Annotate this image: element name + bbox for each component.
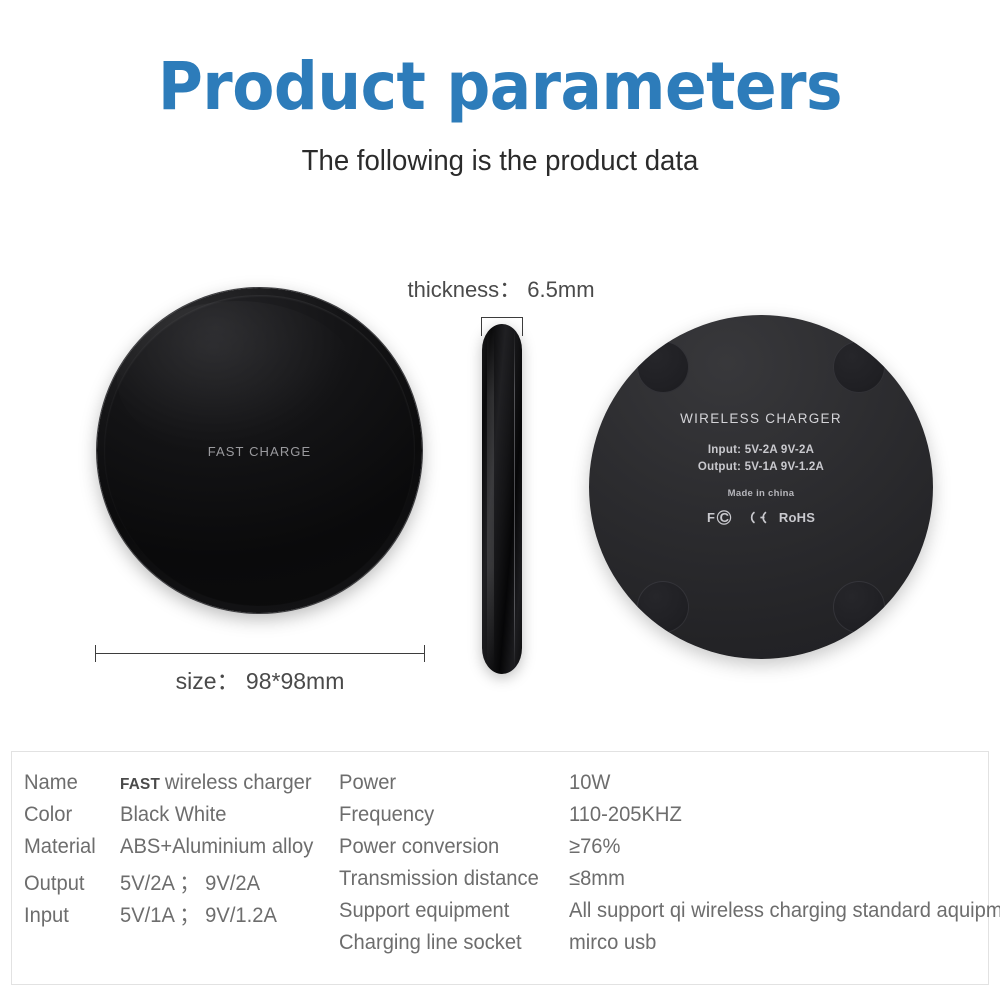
rubber-foot-pad bbox=[833, 341, 885, 393]
charger-front-disc: FAST CHARGE bbox=[97, 288, 422, 613]
spec-row: Power conversion≥76% bbox=[339, 835, 1000, 867]
spec-value: 110-205KHZ bbox=[569, 803, 1000, 827]
spec-value: 10W bbox=[569, 771, 1000, 795]
dimension-line bbox=[481, 317, 523, 318]
rohs-label: RoHS bbox=[779, 510, 815, 525]
spec-row: Input5V/1A ； 9V/1.2A bbox=[24, 899, 330, 931]
back-output-spec: Output: 5V-1A 9V-1.2A bbox=[589, 461, 933, 473]
spec-label: Support equipment bbox=[339, 899, 560, 923]
spec-value: mirco usb bbox=[569, 931, 1000, 955]
spec-row: Frequency110-205KHZ bbox=[339, 803, 1000, 835]
fast-charge-label: FAST CHARGE bbox=[97, 444, 422, 459]
spec-value: All support qi wireless charging standar… bbox=[569, 899, 1000, 923]
spec-label: Charging line socket bbox=[339, 931, 560, 955]
ce-icon bbox=[744, 510, 768, 525]
side-view-edge-seam bbox=[514, 328, 515, 670]
back-product-name: WIRELESS CHARGER bbox=[589, 411, 933, 426]
spec-value: Black White bbox=[120, 803, 322, 827]
side-view-highlight bbox=[487, 329, 494, 669]
dimension-tick-right bbox=[522, 317, 523, 336]
side-view-charger-image bbox=[482, 324, 522, 674]
product-spec-table: NameFASTwireless chargerColorBlack White… bbox=[11, 751, 989, 985]
dimension-tick-left bbox=[481, 317, 482, 336]
spec-label: Name bbox=[24, 771, 116, 795]
spec-label: Power conversion bbox=[339, 835, 560, 859]
back-label-print: WIRELESS CHARGER Input: 5V-2A 9V-2A Outp… bbox=[589, 411, 933, 525]
size-dimension-label: size： 98*98mm bbox=[95, 662, 425, 696]
dimension-line bbox=[95, 653, 425, 654]
thickness-dimension-label: thickness： 6.5mm bbox=[386, 272, 616, 304]
spec-label: Material bbox=[24, 835, 116, 859]
spec-value: ABS+Aluminium alloy bbox=[120, 835, 322, 859]
spec-row: NameFASTwireless charger bbox=[24, 771, 330, 803]
spec-value: ≤8mm bbox=[569, 867, 1000, 891]
certification-marks: F C RoHS bbox=[589, 510, 933, 525]
spec-row: Charging line socketmirco usb bbox=[339, 931, 1000, 963]
back-view-charger-image: WIRELESS CHARGER Input: 5V-2A 9V-2A Outp… bbox=[589, 315, 933, 659]
fast-badge: FAST bbox=[120, 776, 160, 793]
spec-row: Support equipmentAll support qi wireless… bbox=[339, 899, 1000, 931]
page-header: Product parameters The following is the … bbox=[0, 0, 1000, 178]
dimension-tick-right bbox=[424, 645, 425, 662]
rubber-foot-pad bbox=[637, 341, 689, 393]
front-view-charger-image: FAST CHARGE bbox=[97, 288, 422, 613]
spec-row: Transmission distance≤8mm bbox=[339, 867, 1000, 899]
spec-value: 5V/2A ； 9V/2A bbox=[120, 867, 322, 897]
page-title: Product parameters bbox=[35, 0, 965, 121]
spec-label: Frequency bbox=[339, 803, 560, 827]
dimension-tick-left bbox=[95, 645, 96, 662]
spec-value: FASTwireless charger bbox=[120, 771, 322, 795]
rubber-foot-pad bbox=[637, 581, 689, 633]
spec-label: Output bbox=[24, 872, 116, 896]
svg-text:F: F bbox=[707, 510, 715, 525]
spec-label: Transmission distance bbox=[339, 867, 560, 891]
spec-label: Power bbox=[339, 771, 560, 795]
spec-table-right-column: Power10WFrequency110-205KHZPower convers… bbox=[339, 771, 1000, 963]
size-dimension-bracket bbox=[95, 645, 425, 661]
back-input-spec: Input: 5V-2A 9V-2A bbox=[589, 444, 933, 456]
spec-value: ≥76% bbox=[569, 835, 1000, 859]
spec-row: ColorBlack White bbox=[24, 803, 330, 835]
spec-label: Input bbox=[24, 904, 116, 928]
spec-row: MaterialABS+Aluminium alloy bbox=[24, 835, 330, 867]
spec-table-left-column: NameFASTwireless chargerColorBlack White… bbox=[24, 771, 330, 931]
rubber-foot-pad bbox=[833, 581, 885, 633]
spec-label: Color bbox=[24, 803, 116, 827]
spec-row: Output5V/2A ； 9V/2A bbox=[24, 867, 330, 899]
back-made-in-label: Made in china bbox=[589, 488, 933, 499]
spec-row: Power10W bbox=[339, 771, 1000, 803]
page-subtitle: The following is the product data bbox=[25, 121, 975, 178]
svg-text:C: C bbox=[719, 510, 729, 525]
spec-value: 5V/1A ； 9V/1.2A bbox=[120, 899, 322, 929]
fcc-icon: F C bbox=[707, 510, 733, 525]
product-illustration: FAST CHARGE size： 98*98mm thickness： 6.5… bbox=[0, 240, 1000, 710]
